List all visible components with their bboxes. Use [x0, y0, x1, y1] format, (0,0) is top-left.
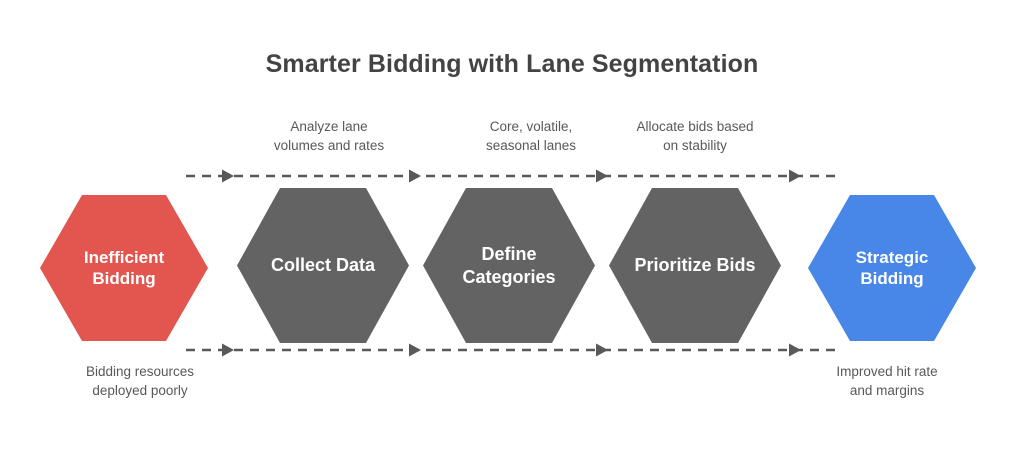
outcome-caption-start: Bidding resources deployed poorly — [25, 362, 255, 400]
step-caption-prioritize-bids: Allocate bids based on stability — [595, 117, 795, 155]
arrowhead-bottom-1 — [222, 344, 234, 357]
hex-node-label: Prioritize Bids — [628, 254, 761, 277]
hex-node-prioritize-bids[interactable]: Prioritize Bids — [609, 188, 781, 343]
hex-node-inefficient-bidding[interactable]: Inefficient Bidding — [40, 195, 208, 341]
page-title: Smarter Bidding with Lane Segmentation — [0, 48, 1024, 80]
hex-node-collect-data[interactable]: Collect Data — [237, 188, 409, 343]
hex-node-label: Strategic Bidding — [850, 247, 935, 290]
flow-connector-bottom — [0, 342, 1024, 358]
arrowhead-top-4 — [789, 170, 801, 183]
step-caption-collect-data: Analyze lane volumes and rates — [229, 117, 429, 155]
hex-node-label: Collect Data — [265, 254, 381, 277]
hex-node-label: Inefficient Bidding — [78, 247, 170, 290]
hex-node-label: Define Categories — [456, 243, 561, 288]
arrowhead-bottom-3 — [596, 344, 608, 357]
hex-node-strategic-bidding[interactable]: Strategic Bidding — [808, 195, 976, 341]
diagram-canvas: Smarter Bidding with Lane Segmentation A… — [0, 0, 1024, 457]
arrowhead-bottom-4 — [789, 344, 801, 357]
outcome-caption-end: Improved hit rate and margins — [772, 362, 1002, 400]
flow-connector-top — [0, 168, 1024, 184]
arrowhead-bottom-2 — [409, 344, 421, 357]
arrowhead-top-2 — [409, 170, 421, 183]
hex-node-define-categories[interactable]: Define Categories — [423, 188, 595, 343]
arrowhead-top-3 — [596, 170, 608, 183]
arrowhead-top-1 — [222, 170, 234, 183]
